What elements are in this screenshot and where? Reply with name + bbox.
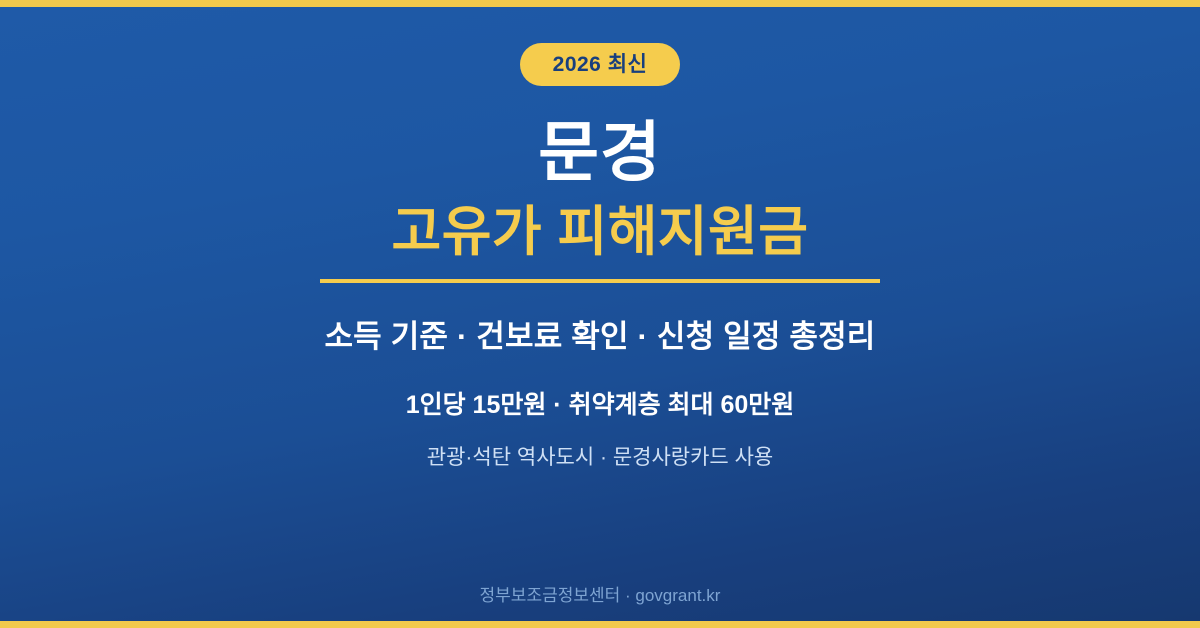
amount-text: 1인당 15만원 · 취약계층 최대 60만원 — [406, 385, 795, 421]
year-badge: 2026 최신 — [520, 43, 681, 86]
page-title: 문경 — [538, 118, 661, 187]
footer-attribution: 정부보조금정보센터 · govgrant.kr — [0, 581, 1200, 606]
promo-poster: 2026 최신 문경 고유가 피해지원금 소득 기준 · 건보료 확인 · 신청… — [0, 0, 1200, 628]
poster-content: 2026 최신 문경 고유가 피해지원금 소득 기준 · 건보료 확인 · 신청… — [0, 0, 1200, 628]
title-divider — [320, 279, 880, 283]
note-text: 관광·석탄 역사도시 · 문경사랑카드 사용 — [427, 441, 773, 471]
page-subtitle: 고유가 피해지원금 — [392, 203, 809, 278]
tagline-text: 소득 기준 · 건보료 확인 · 신청 일정 총정리 — [324, 311, 875, 356]
